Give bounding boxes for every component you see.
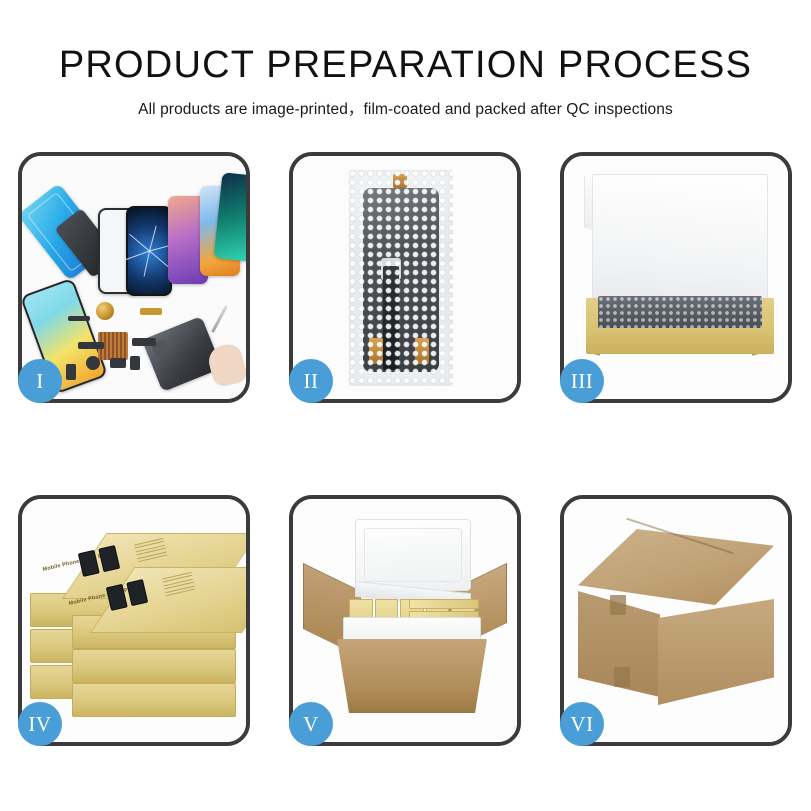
step-card-5: V	[289, 495, 521, 746]
earpiece-icon	[110, 358, 126, 368]
sim-tray-icon	[66, 364, 76, 380]
step-image-2	[293, 156, 517, 399]
step-card-1: I	[18, 152, 250, 403]
process-steps-grid: I II	[18, 152, 793, 746]
phone-cracked-display-icon	[126, 206, 172, 296]
box-edge	[72, 649, 236, 683]
box-edge	[72, 683, 236, 717]
step-badge-1: I	[18, 359, 62, 403]
step-badge-6: VI	[560, 702, 604, 746]
inner-box-scene	[564, 156, 788, 399]
stacked-boxes-icon: Mobile Phone Spare Parts Mobile Phone Sp…	[28, 519, 246, 735]
carton-side-face-icon	[658, 599, 774, 705]
box-lid-icon	[592, 174, 768, 302]
product-parts-scene	[22, 156, 246, 399]
step-badge-3: III	[560, 359, 604, 403]
page-title: PRODUCT PREPARATION PROCESS	[0, 46, 811, 84]
step-badge-4: IV	[18, 702, 62, 746]
carton-packing-scene	[293, 499, 517, 742]
carton-tape-lower-icon	[614, 667, 630, 687]
sealed-carton-scene	[564, 499, 788, 742]
carton-tape-upper-icon	[610, 595, 626, 615]
carton-body-icon	[337, 639, 487, 713]
antenna-flex-icon	[68, 316, 90, 321]
step-image-6	[564, 499, 788, 742]
flex-cable-icon	[78, 342, 104, 349]
step-badge-5: V	[289, 702, 333, 746]
carton-top-face-icon	[578, 529, 774, 605]
screwdriver-icon	[211, 305, 228, 333]
bubble-texture-icon	[349, 170, 453, 386]
speaker-module-icon	[96, 302, 114, 320]
bubble-wrap-bag-icon	[349, 170, 453, 386]
bubble-wrapped-item-icon	[598, 296, 762, 328]
step-image-4: Mobile Phone Spare Parts Mobile Phone Sp…	[22, 499, 246, 742]
page-header: PRODUCT PREPARATION PROCESS All products…	[0, 0, 811, 119]
step-card-2: II	[289, 152, 521, 403]
step-image-1	[22, 156, 246, 399]
step-image-3	[564, 156, 788, 399]
step-card-6: VI	[560, 495, 792, 746]
vibration-motor-icon	[86, 356, 100, 370]
boxed-stack-scene: Mobile Phone Spare Parts Mobile Phone Sp…	[22, 499, 246, 742]
step-card-4: Mobile Phone Spare Parts Mobile Phone Sp…	[18, 495, 250, 746]
page-subtitle: All products are image-printed，film-coat…	[0, 97, 811, 119]
camera-flex-icon	[132, 338, 156, 346]
bubble-wrap-scene	[293, 156, 517, 399]
step-badge-2: II	[289, 359, 333, 403]
step-image-5	[293, 499, 517, 742]
step-card-3: III	[560, 152, 792, 403]
battery-connector-icon	[130, 356, 140, 370]
product-preparation-process-page: PRODUCT PREPARATION PROCESS All products…	[0, 0, 811, 811]
gold-flex-icon	[140, 308, 162, 315]
inner-box-item	[409, 599, 479, 609]
foam-lid-icon	[355, 519, 471, 591]
